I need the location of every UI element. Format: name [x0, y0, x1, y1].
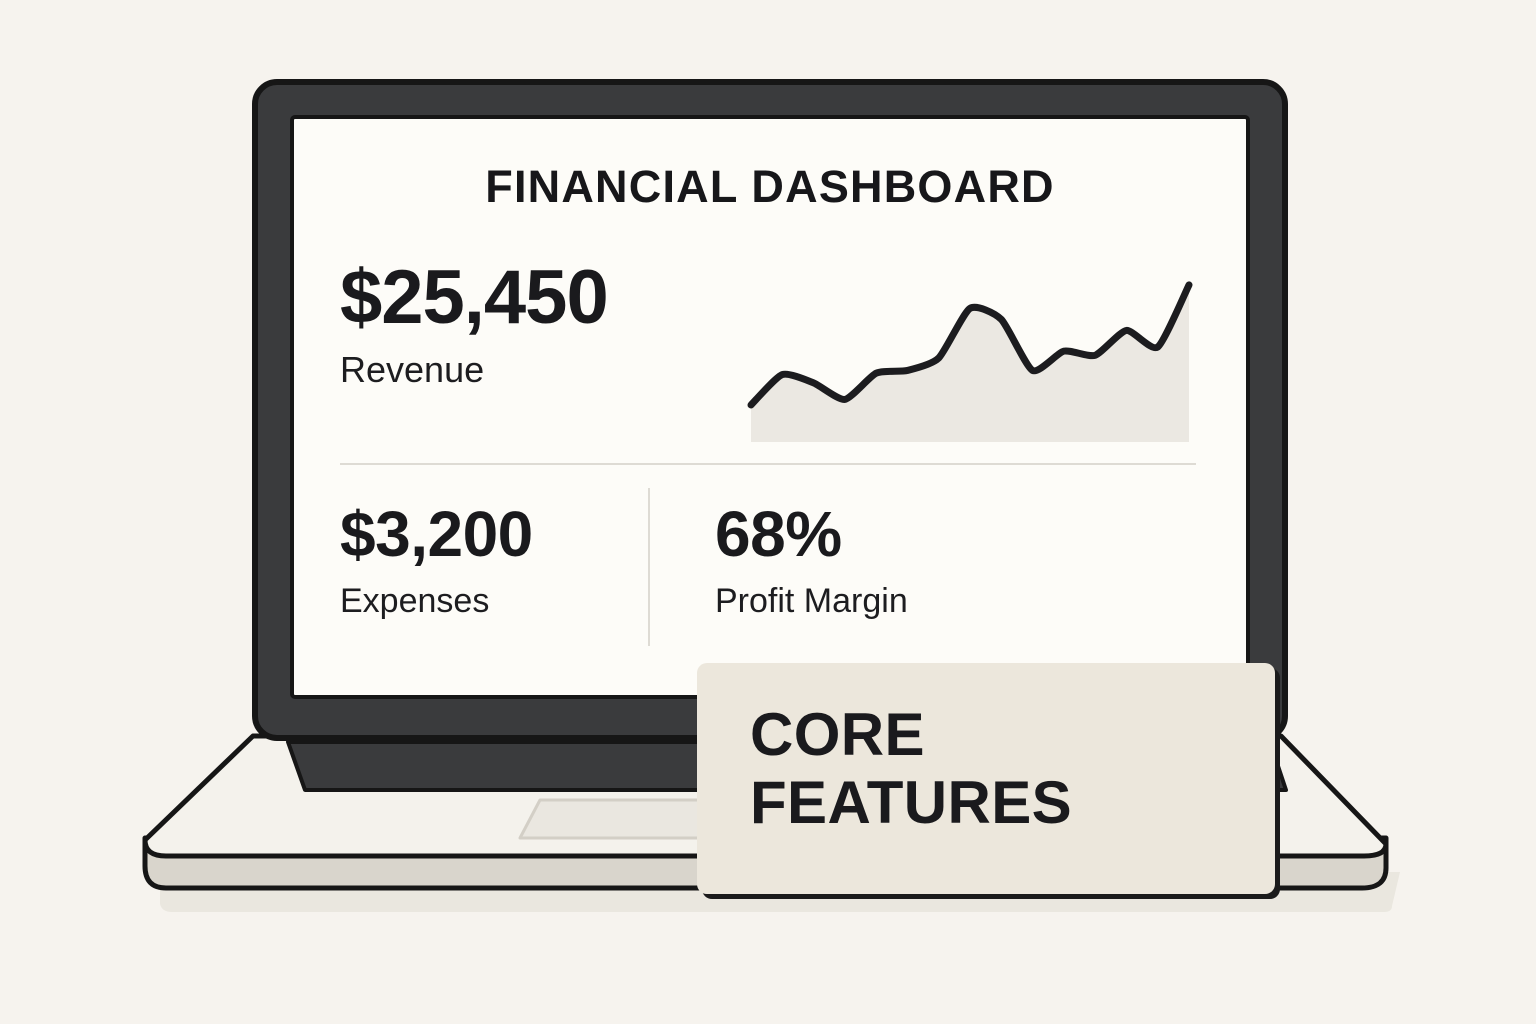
metric-profit-margin-value: 68% [715, 502, 908, 566]
metric-expenses-label: Expenses [340, 584, 533, 618]
core-features-line-1: CORE [750, 701, 1072, 769]
secondary-metrics-row: $3,200 Expenses 68% Profit Margin [340, 502, 1220, 682]
core-features-line-2: FEATURES [750, 769, 1072, 837]
metric-expenses: $3,200 Expenses [340, 502, 533, 618]
core-features-card: CORE FEATURES [697, 663, 1275, 894]
metric-profit-margin-label: Profit Margin [715, 584, 908, 618]
scene-root: FINANCIAL DASHBOARD $25,450 Revenue $3,2… [0, 0, 1536, 1024]
core-features-title: CORE FEATURES [750, 701, 1072, 838]
revenue-trend-chart [743, 272, 1195, 442]
dashboard-screen: FINANCIAL DASHBOARD $25,450 Revenue $3,2… [292, 117, 1248, 697]
revenue-trend-chart-svg [743, 272, 1195, 442]
metric-profit-margin: 68% Profit Margin [715, 502, 908, 618]
horizontal-divider [340, 463, 1196, 465]
metric-revenue-value: $25,450 [340, 260, 608, 336]
page-title: FINANCIAL DASHBOARD [292, 161, 1248, 213]
metric-revenue-label: Revenue [340, 352, 608, 388]
metric-revenue: $25,450 Revenue [340, 260, 608, 388]
metric-expenses-value: $3,200 [340, 502, 533, 566]
